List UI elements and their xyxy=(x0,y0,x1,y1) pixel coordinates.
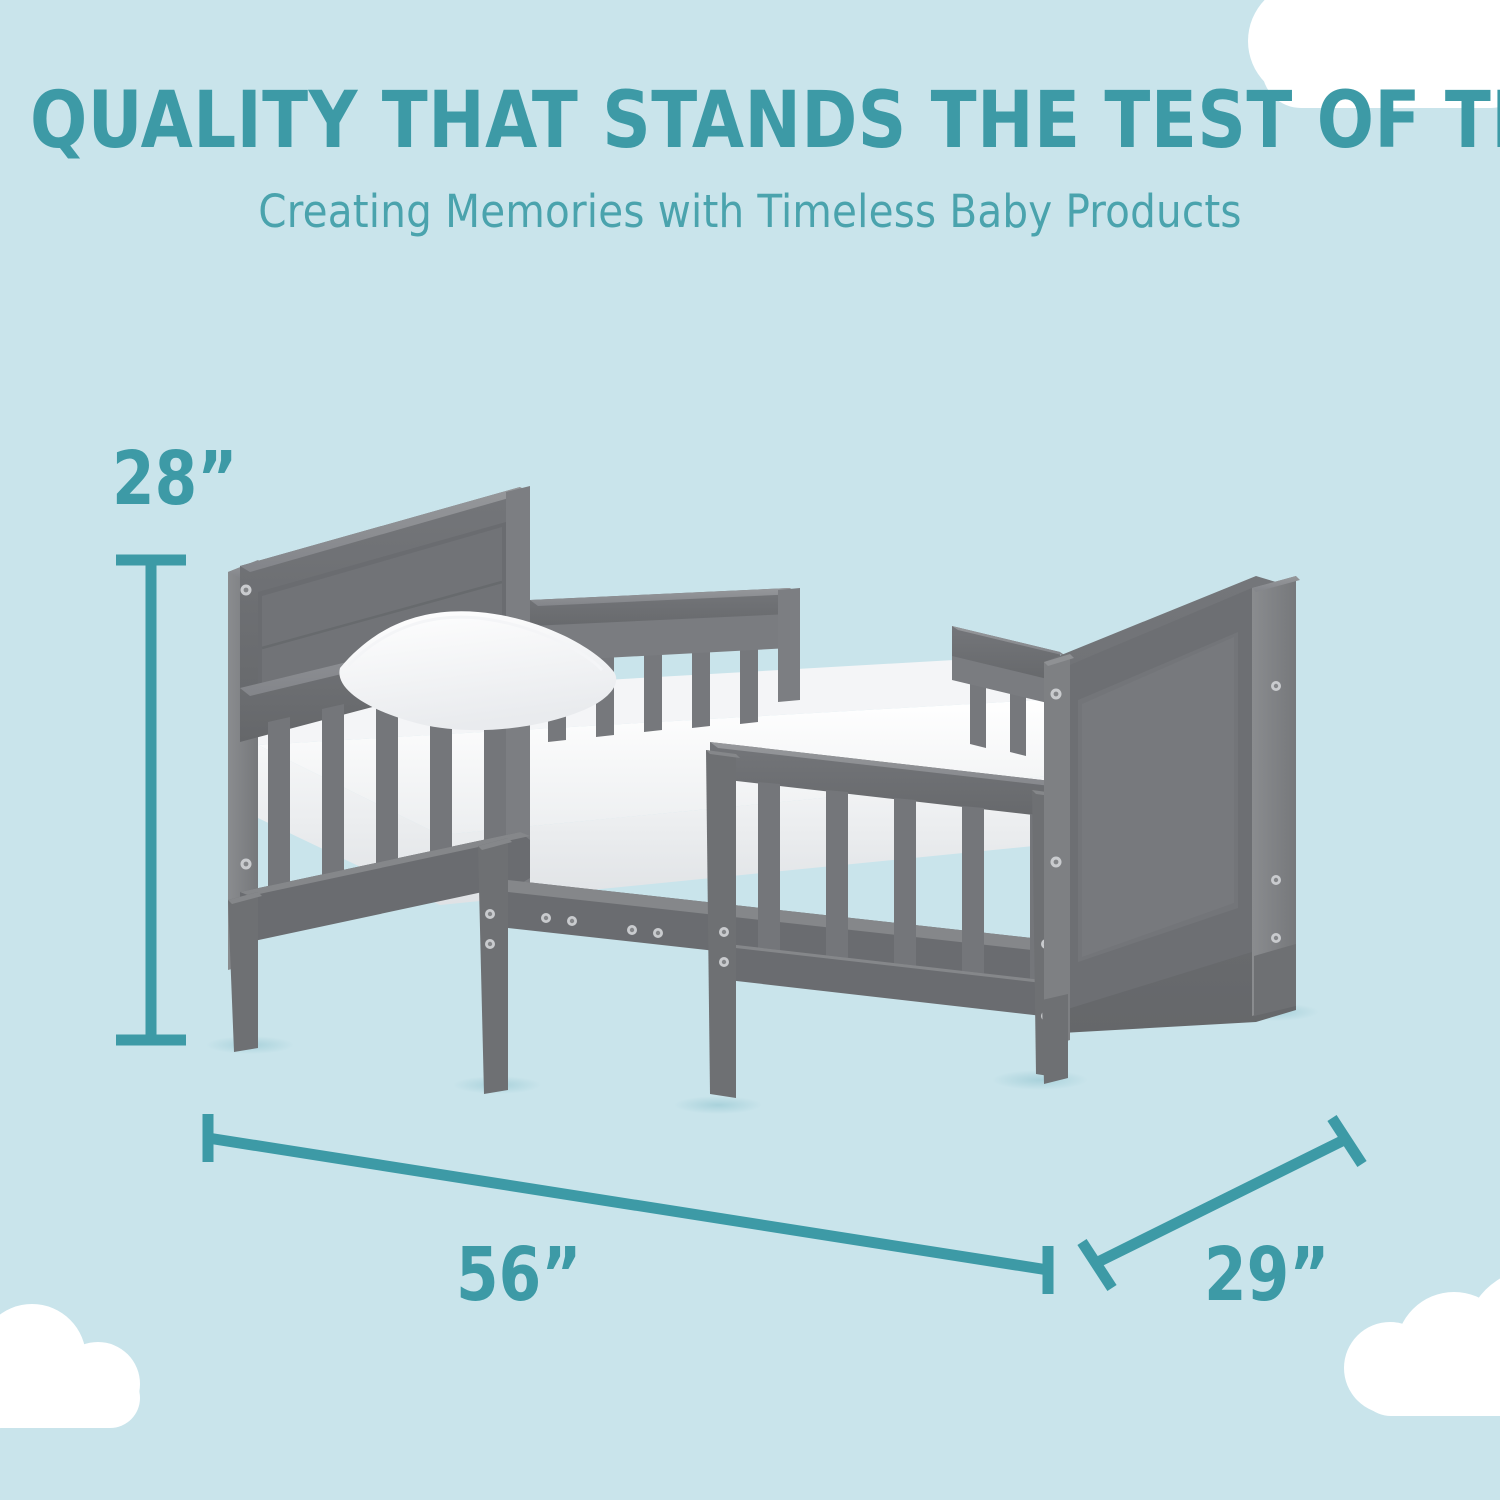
dimension-label-depth: 29” xyxy=(1204,1238,1329,1312)
dimension-line-height xyxy=(116,560,186,1040)
dimension-line-length xyxy=(208,1114,1048,1294)
infographic-canvas: QUALITY THAT STANDS THE TEST OF TIME Cre… xyxy=(0,0,1500,1500)
dimension-label-length: 56” xyxy=(456,1238,581,1312)
dimension-label-height: 28” xyxy=(112,442,237,516)
